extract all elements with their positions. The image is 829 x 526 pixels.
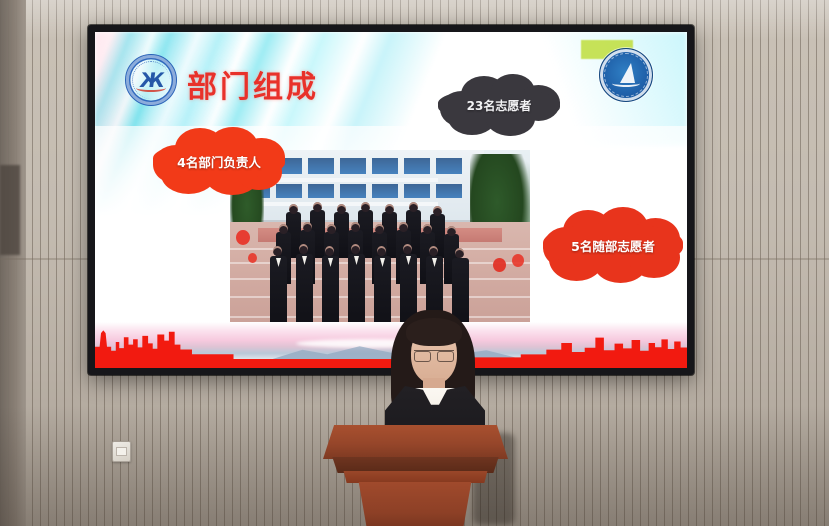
podium-band [339,471,492,483]
glasses-icon [414,350,454,360]
photo-balloon [512,254,524,267]
school-emblem-left-icon: Ж [125,54,177,106]
presentation-room-scene: Ж 部门组成 [0,0,829,526]
photo-balloon [493,258,506,272]
photo-balloon [248,253,257,263]
callout-cloud-attached-volunteers: 5名随部志愿者 [540,207,686,283]
school-emblem-right-icon [599,48,653,102]
seal-right-hull [612,80,640,87]
callout-cloud-volunteers: 23名志愿者 [435,74,563,136]
slide-title: 部门组成 [187,62,319,106]
callout-text: 5名随部志愿者 [571,236,655,255]
podium-top [323,425,508,459]
podium-lip [327,457,504,473]
podium-body [351,482,479,526]
presenter-fringe [406,318,462,346]
callout-cloud-department-heads: 4名部门负责人 [150,127,288,195]
wall-left-dark-panel [0,165,20,255]
seal-left-wave [136,84,166,92]
callout-text: 4名部门负责人 [177,152,261,171]
light-switch-plate[interactable] [112,441,131,462]
callout-text: 23名志愿者 [467,97,532,114]
podium-lectern [323,425,508,526]
photo-balloon [236,230,250,245]
